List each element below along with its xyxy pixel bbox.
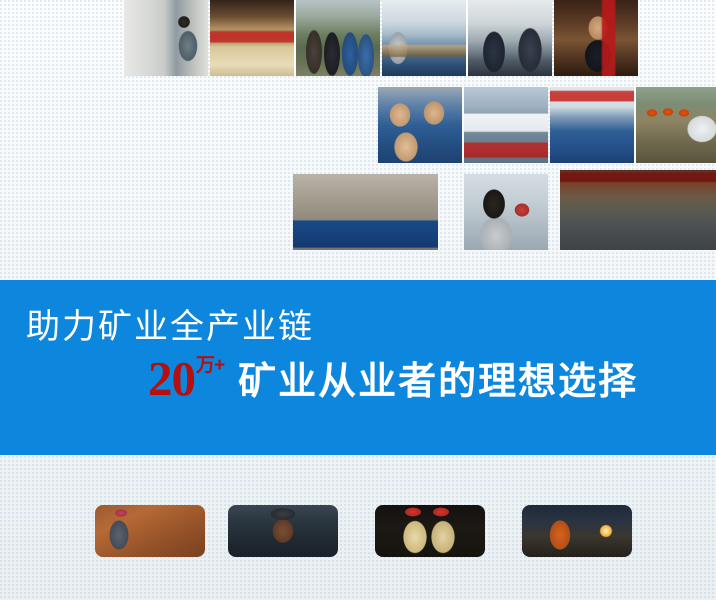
collage-photo-executive-portrait-office bbox=[554, 0, 638, 76]
collage-photo-lab-technician-at-instrument bbox=[124, 0, 208, 76]
collage-photo-team-photo-blue-uniform bbox=[378, 87, 462, 163]
blue-promo-banner: 助力矿业全产业链 20 万+ 矿业从业者的理想选择 bbox=[0, 280, 716, 455]
banner-headline-line1: 助力矿业全产业链 bbox=[26, 307, 314, 347]
collage-photo-company-ceremony-hall bbox=[210, 0, 294, 76]
collage-photo-mine-site-crew-blue bbox=[550, 87, 634, 163]
banner-stat-unit: 万+ bbox=[196, 356, 224, 375]
photo-collage bbox=[0, 0, 716, 262]
banner-headline-line2: 20 万+ 矿业从业者的理想选择 bbox=[148, 354, 638, 403]
thumbnail-smelter-worker-furnace[interactable] bbox=[522, 505, 632, 557]
collage-photo-two-workers-equipment bbox=[468, 0, 552, 76]
collage-photo-conference-group-photo-2017 bbox=[560, 170, 716, 250]
thumbnail-geologist-field-survey[interactable] bbox=[95, 505, 205, 557]
collage-photo-workshop-assembly-line bbox=[382, 0, 466, 76]
banner-stat-number: 20 bbox=[148, 354, 195, 403]
collage-photo-female-worker-outdoor bbox=[464, 174, 548, 250]
thumbnail-underground-workers-red-helmet[interactable] bbox=[375, 505, 485, 557]
collage-photo-banner-ceremony-outdoor bbox=[464, 87, 548, 163]
collage-photo-miners-group-mountain bbox=[296, 0, 380, 76]
collage-photo-hard-hat-crew-van bbox=[636, 87, 716, 163]
banner-headline-tail: 矿业从业者的理想选择 bbox=[238, 362, 638, 402]
promo-banner-page: 助力矿业全产业链 20 万+ 矿业从业者的理想选择 bbox=[0, 0, 716, 600]
collage-photo-company-signage-wall bbox=[293, 174, 438, 250]
thumbnail-strip bbox=[0, 500, 716, 600]
thumbnail-smiling-miner-helmet[interactable] bbox=[228, 505, 338, 557]
